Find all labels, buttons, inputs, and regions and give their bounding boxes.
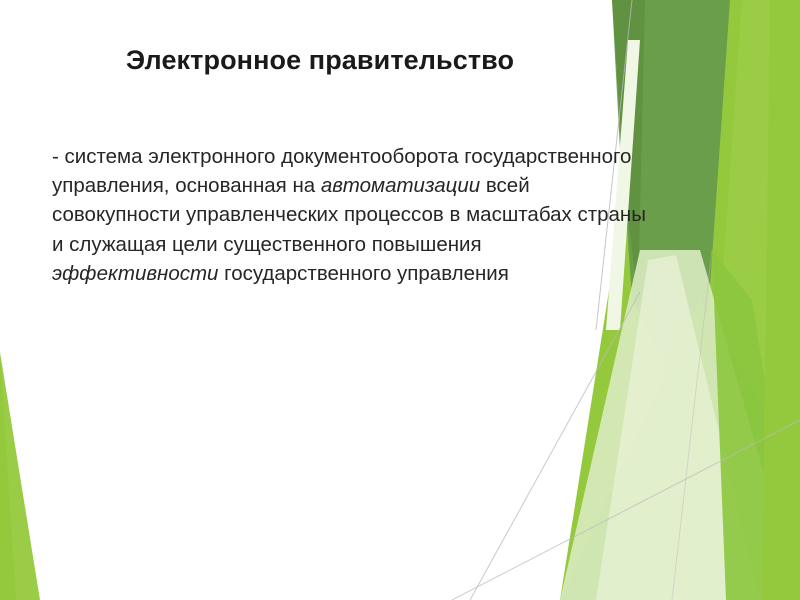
green-wedge-left-bottom	[0, 352, 20, 600]
body-paragraph: - система электронного документооборота …	[52, 142, 652, 288]
body-segment-4: государственного управления	[218, 262, 508, 285]
green-wedge-right-strip	[762, 0, 800, 600]
green-wedge-right-outer	[700, 0, 800, 600]
slide-title-block: Электронное правительство	[60, 44, 580, 76]
hairline-diagonal-long	[470, 292, 640, 600]
green-wedge-left-bottom-inner	[0, 352, 40, 600]
green-wedge-pale-light	[596, 255, 760, 600]
slide-canvas: Электронное правительство - система элек…	[0, 0, 800, 600]
green-wedge-mid	[560, 300, 800, 600]
green-wedge-right-base	[560, 0, 800, 600]
hairline-vertical-right	[672, 250, 712, 600]
body-segment-1: автоматизации	[321, 174, 480, 197]
facet-decoration-graphic	[0, 0, 800, 600]
green-wedge-bright-narrow	[712, 250, 800, 600]
hairline-diagonal-lower	[452, 420, 800, 600]
slide-body-block: - система электронного документооборота …	[52, 142, 652, 288]
green-wedge-pale	[560, 250, 800, 600]
page-title: Электронное правительство	[60, 44, 580, 76]
body-segment-3: эффективности	[52, 262, 218, 285]
